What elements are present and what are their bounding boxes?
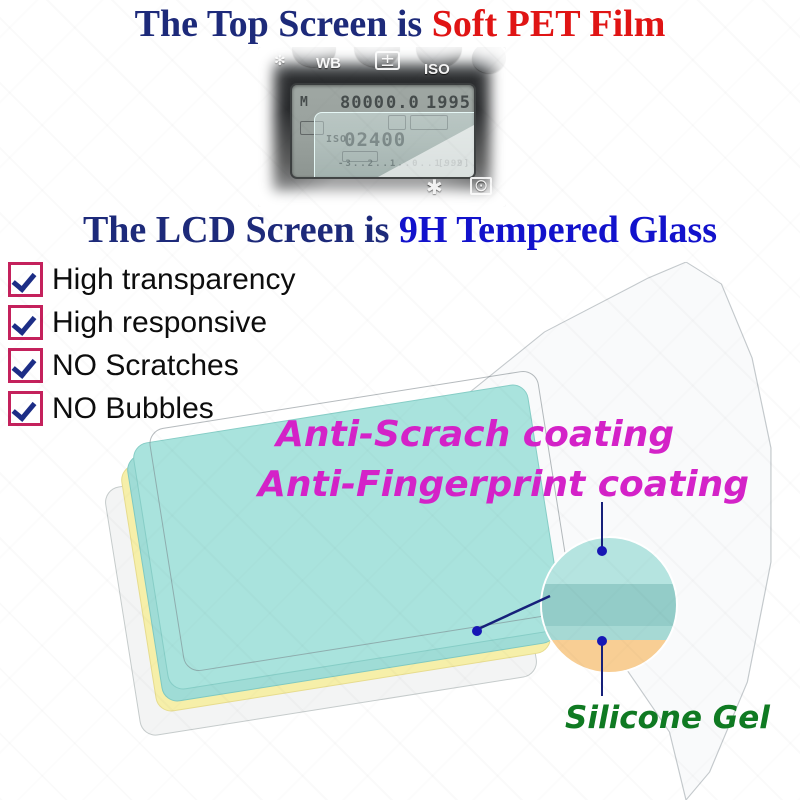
check-icon[interactable]: [8, 391, 43, 426]
headline-lcd-highlight: 9H Tempered Glass: [399, 209, 717, 251]
lcd-illumination-icon: ✻: [274, 53, 286, 69]
lcd-aperture: 1995: [426, 93, 471, 113]
lcd-mode: M: [300, 95, 309, 110]
ae-lock-icon: ✱: [426, 175, 443, 199]
callout-anti-scratch: Anti-Scrach coating: [276, 414, 674, 455]
leader-dot-edge: [472, 626, 482, 636]
check-icon[interactable]: [8, 348, 43, 383]
feature-label: High transparency: [52, 263, 295, 297]
camera-mode-dial: [472, 47, 506, 73]
magnifier-coating-layer: [542, 538, 676, 584]
check-icon[interactable]: [8, 262, 43, 297]
list-item[interactable]: NO Scratches: [8, 344, 295, 387]
camera-lcd-panel: M 8000 0.0 1995 ISO 02400 -3..2..1..0..1…: [290, 83, 476, 179]
iso-label: ISO: [424, 61, 450, 78]
check-icon[interactable]: [8, 305, 43, 340]
leader-line-edge: [470, 590, 580, 640]
feature-label: NO Bubbles: [52, 392, 214, 426]
headline-top-highlight: Soft PET Film: [432, 3, 666, 45]
list-item[interactable]: High transparency: [8, 258, 295, 301]
af-point-select-icon: ⊙: [470, 177, 492, 195]
product-infographic: The Top Screen is Soft PET Film ✻ WB ± I…: [0, 0, 800, 800]
feature-checklist: High transparency High responsive NO Scr…: [8, 258, 295, 430]
headline-top-screen: The Top Screen is Soft PET Film: [0, 5, 800, 43]
lcd-shutter: 8000: [340, 93, 385, 113]
magnifier-silicone-gel-layer: [542, 640, 676, 672]
camera-top-lcd-photo: ✻ WB ± ISO M 8000 0.0 1995 ISO 02400 -3.…: [258, 47, 506, 207]
pet-film-peel-corner: [378, 125, 474, 177]
callout-silicone-gel: Silicone Gel: [565, 700, 770, 736]
leader-line-gel: [601, 640, 603, 696]
callout-anti-fingerprint: Anti-Fingerprint coating: [258, 464, 749, 505]
lcd-exposure: 0.0: [386, 93, 420, 113]
headline-lcd-prefix: The LCD Screen is: [83, 209, 399, 251]
feature-label: High responsive: [52, 306, 267, 340]
white-balance-label: WB: [316, 55, 341, 72]
feature-label: NO Scratches: [52, 349, 239, 383]
exposure-compensation-icon: ±: [375, 51, 400, 70]
headline-lcd-screen: The LCD Screen is 9H Tempered Glass: [0, 211, 800, 249]
leader-dot-coating: [597, 546, 607, 556]
list-item[interactable]: High responsive: [8, 301, 295, 344]
leader-dot-gel: [597, 636, 607, 646]
headline-top-prefix: The Top Screen is: [135, 3, 432, 45]
leader-line-coating: [601, 502, 603, 550]
list-item[interactable]: NO Bubbles: [8, 387, 295, 430]
